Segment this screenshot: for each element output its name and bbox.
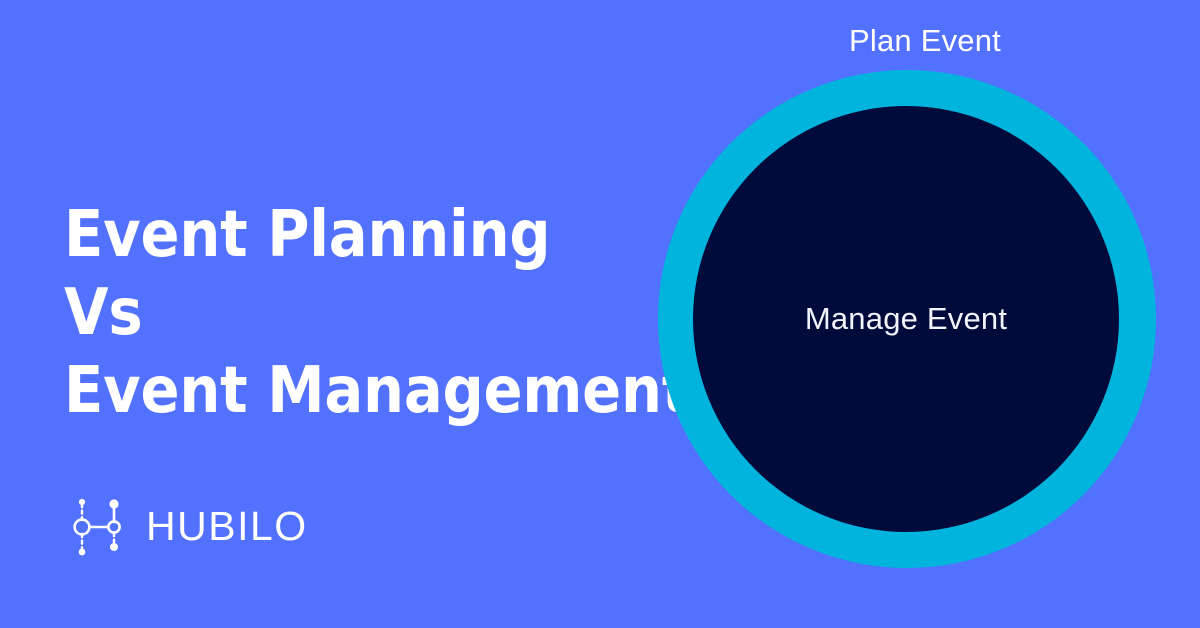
brand-name: HUBILO — [146, 506, 308, 549]
manage-event-label: Manage Event — [693, 106, 1119, 532]
plan-event-label: Plan Event — [765, 24, 1085, 58]
outer-ring-plan-event: Manage Event — [658, 70, 1156, 568]
page-title: Event Planning Vs Event Management — [64, 196, 664, 430]
hubilo-network-nodes-icon — [64, 494, 130, 560]
headline-line-2: Vs — [64, 274, 664, 352]
headline-line-1: Event Planning — [64, 196, 664, 274]
concentric-circle-diagram: Manage Event — [658, 70, 1156, 568]
slide-canvas: Event Planning Vs Event Management — [0, 0, 1200, 628]
brand-logo: HUBILO — [64, 494, 308, 560]
headline-line-3: Event Management — [64, 352, 664, 430]
inner-circle-manage-event: Manage Event — [693, 106, 1119, 532]
